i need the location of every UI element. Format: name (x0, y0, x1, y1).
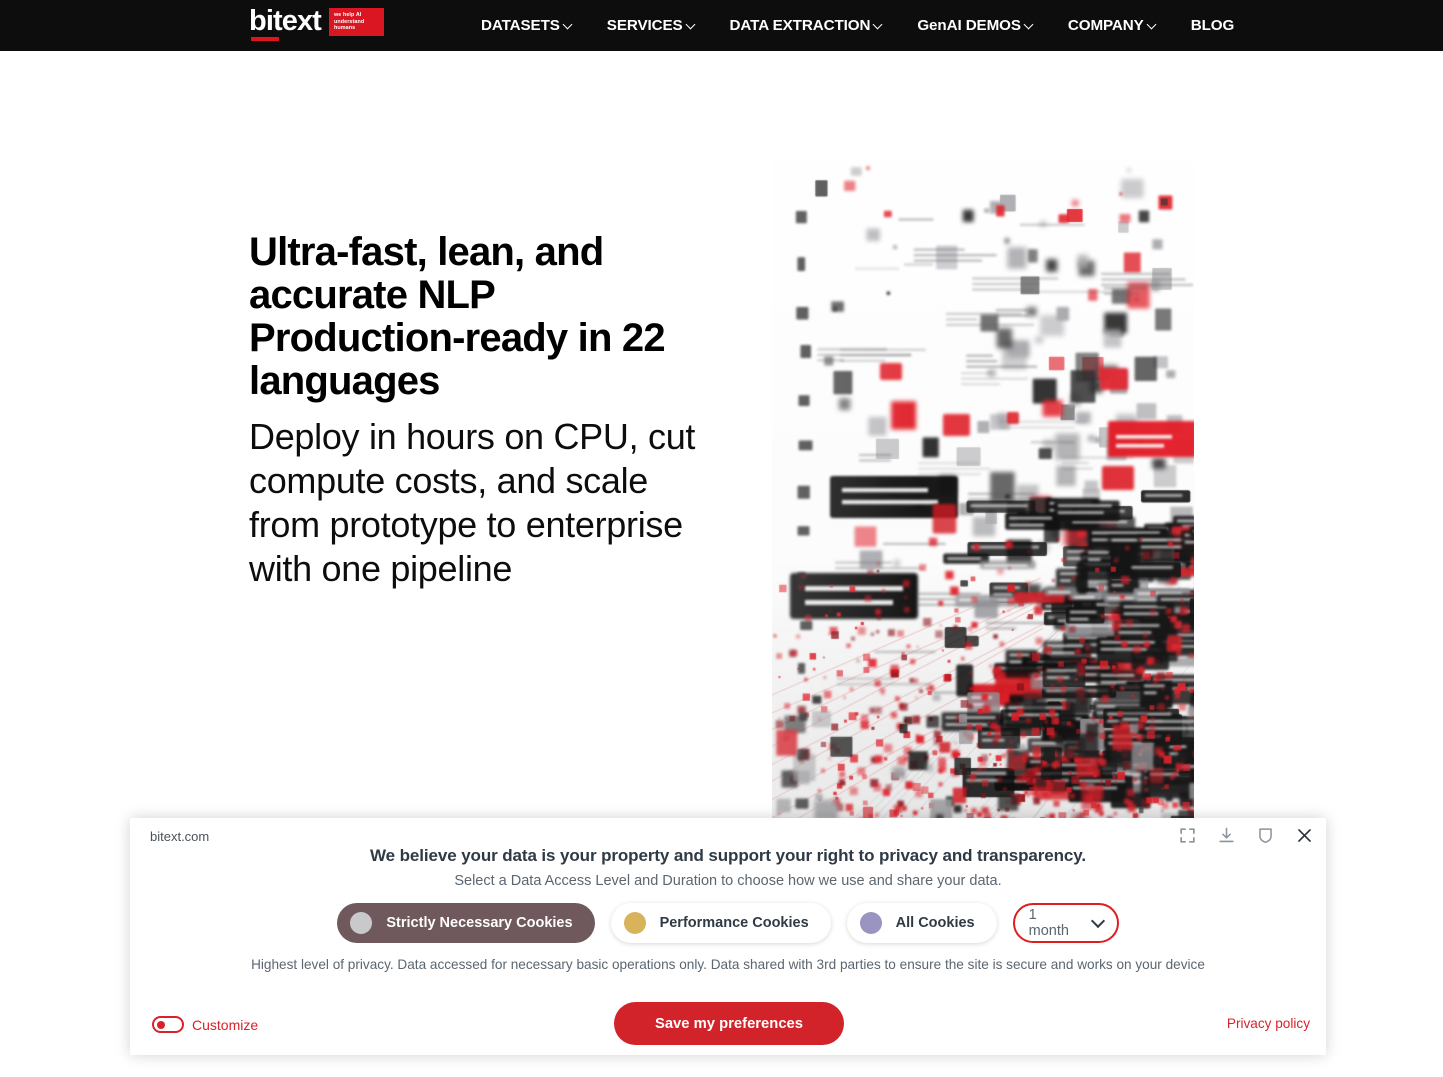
nav-item-blog[interactable]: BLOG (1174, 17, 1251, 34)
nav-item-label: BLOG (1191, 17, 1234, 34)
page-title: Ultra-fast, lean, and accurate NLP Produ… (249, 231, 719, 403)
banner-icon-group (1178, 826, 1314, 845)
nav-item-services[interactable]: SERVICES (590, 17, 713, 34)
duration-selected-value: 1 month (1029, 907, 1078, 939)
banner-subheading: Select a Data Access Level and Duration … (130, 873, 1326, 889)
chevron-down-icon (1148, 20, 1157, 29)
nav-item-label: SERVICES (607, 17, 683, 34)
level-performance-cookies[interactable]: Performance Cookies (611, 903, 831, 943)
duration-select[interactable]: 1 month (1013, 903, 1119, 943)
level-all-cookies[interactable]: All Cookies (847, 903, 997, 943)
hero-title-line-2: Production-ready in 22 languages (249, 317, 719, 403)
save-preferences-button[interactable]: Save my preferences (614, 1002, 844, 1045)
nav-item-label: DATASETS (481, 17, 560, 34)
nav-item-data-extraction[interactable]: DATA EXTRACTION (713, 17, 901, 34)
primary-nav-links: DATASETS SERVICES DATA EXTRACTION GenAI … (470, 0, 1251, 51)
logo-wordmark-wrap: bitext (249, 6, 321, 36)
level-indicator-dot (860, 912, 882, 934)
level-strictly-necessary-cookies[interactable]: Strictly Necessary Cookies (337, 903, 594, 943)
logo-wordmark: bitext (249, 6, 321, 36)
chevron-down-icon (874, 20, 883, 29)
cookie-consent-banner: bitext.com We believe your data is your … (130, 818, 1326, 1055)
chevron-down-icon (1025, 20, 1034, 29)
nav-item-label: COMPANY (1068, 17, 1144, 34)
customize-toggle-switch[interactable] (152, 1016, 184, 1033)
nav-item-datasets[interactable]: DATASETS (470, 17, 590, 34)
abstract-data-visualization-canvas (772, 148, 1194, 900)
shield-icon[interactable] (1256, 826, 1275, 845)
nav-item-label: GenAI DEMOS (917, 17, 1021, 34)
customize-toggle-group[interactable]: Customize (152, 1016, 258, 1033)
chevron-down-icon (564, 20, 573, 29)
logo-tagline: we help AI understand humans (329, 8, 384, 36)
chevron-down-icon (1093, 916, 1102, 926)
close-icon[interactable] (1295, 826, 1314, 845)
level-label: Performance Cookies (660, 915, 809, 931)
nav-item-company[interactable]: COMPANY (1051, 17, 1174, 34)
logo-underline-accent (251, 37, 279, 41)
chevron-down-icon (687, 20, 696, 29)
level-description-text: Highest level of privacy. Data accessed … (130, 957, 1326, 972)
nav-item-genai-demos[interactable]: GenAI DEMOS (900, 17, 1051, 34)
hero-title-line-1: Ultra-fast, lean, and accurate NLP (249, 230, 603, 317)
hero-text-block: Ultra-fast, lean, and accurate NLP Produ… (249, 231, 719, 591)
banner-domain-label: bitext.com (150, 829, 209, 844)
nav-item-label: DATA EXTRACTION (730, 17, 871, 34)
hero-illustration (772, 148, 1194, 900)
level-indicator-dot (350, 912, 372, 934)
customize-label: Customize (192, 1017, 258, 1033)
level-indicator-dot (624, 912, 646, 934)
download-icon[interactable] (1217, 826, 1236, 845)
level-label: Strictly Necessary Cookies (386, 915, 572, 931)
data-access-level-group: Strictly Necessary Cookies Performance C… (130, 903, 1326, 943)
level-label: All Cookies (896, 915, 975, 931)
banner-heading: We believe your data is your property an… (130, 846, 1326, 866)
top-navigation-bar: bitext we help AI understand humans DATA… (0, 0, 1443, 51)
site-logo[interactable]: bitext we help AI understand humans (249, 6, 384, 36)
privacy-policy-link[interactable]: Privacy policy (1227, 1016, 1310, 1031)
expand-icon[interactable] (1178, 826, 1197, 845)
hero-subtitle: Deploy in hours on CPU, cut compute cost… (249, 415, 719, 591)
